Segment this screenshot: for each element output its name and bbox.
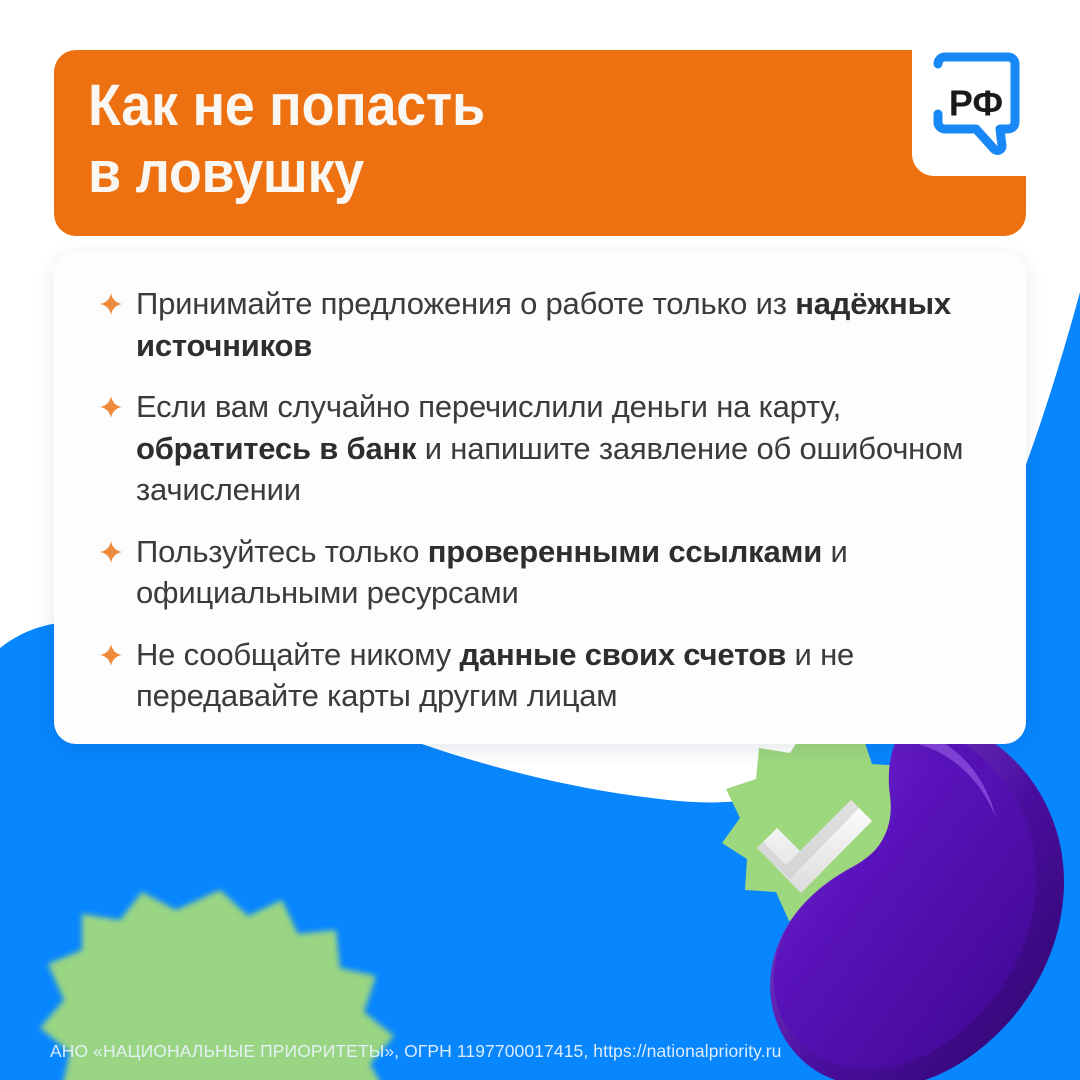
rf-logo-text: РФ — [949, 83, 1003, 124]
list-item-text: Пользуйтесь только проверенными ссылками… — [136, 531, 1000, 614]
orange-diamond-icon — [100, 644, 122, 666]
page-title: Как не попасть в ловушку — [88, 72, 485, 207]
rf-speech-bubble-logo: РФ — [928, 48, 1024, 160]
list-item-text: Принимайте предложения о работе только и… — [136, 283, 1000, 366]
infographic-poster: Как не попасть в ловушку РФ Принимайте п… — [0, 0, 1080, 1080]
footer-legal-text: АНО «НАЦИОНАЛЬНЫЕ ПРИОРИТЕТЫ», ОГРН 1197… — [50, 1041, 781, 1062]
list-item: Если вам случайно перечислили деньги на … — [100, 386, 1000, 511]
list-item-text: Не сообщайте никому данные своих счетов … — [136, 634, 1000, 717]
list-item: Принимайте предложения о работе только и… — [100, 283, 1000, 366]
list-item-text: Если вам случайно перечислили деньги на … — [136, 386, 1000, 511]
tips-list: Принимайте предложения о работе только и… — [100, 283, 1000, 717]
list-item: Пользуйтесь только проверенными ссылками… — [100, 531, 1000, 614]
orange-diamond-icon — [100, 396, 122, 418]
orange-diamond-icon — [100, 541, 122, 563]
orange-diamond-icon — [100, 293, 122, 315]
list-item: Не сообщайте никому данные своих счетов … — [100, 634, 1000, 717]
